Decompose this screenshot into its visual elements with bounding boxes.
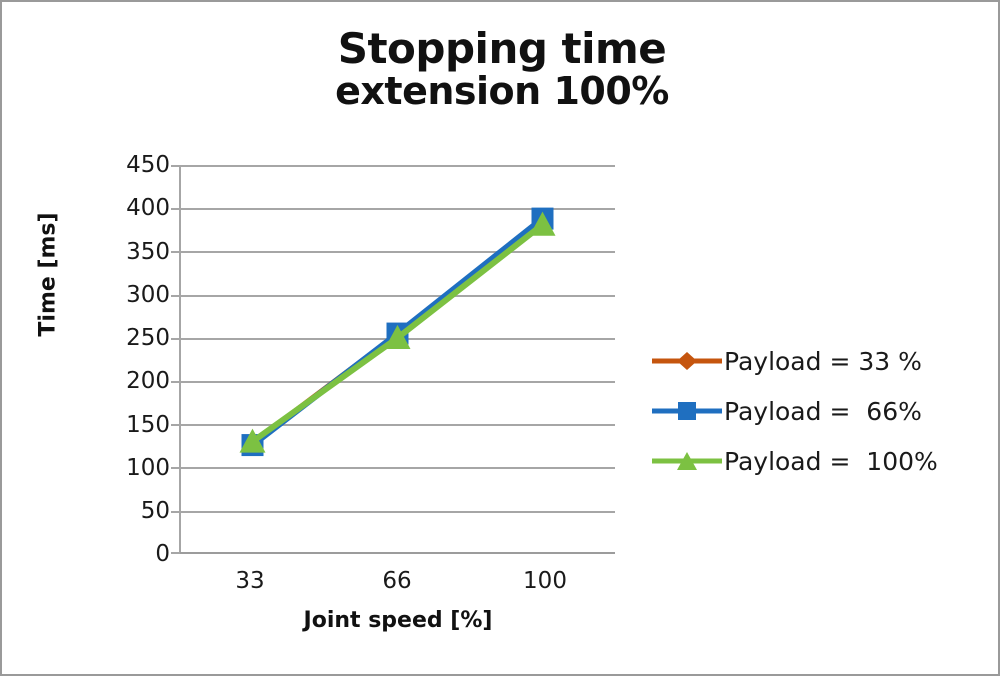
y-tick-label: 400 [98,197,170,220]
y-tick-label: 450 [98,154,170,177]
y-axis-title: Time [ms] [36,175,61,375]
legend-marker-triangle-icon [650,449,724,473]
legend-item-payload-100: Payload = 100% [650,436,990,486]
y-axis-tick-labels: 450 400 350 300 250 200 150 100 50 0 [88,165,170,554]
legend-label: Payload = 100% [724,447,938,476]
y-tick-label: 0 [98,543,170,566]
legend-marker-square-icon [650,399,724,423]
legend-item-payload-66: Payload = 66% [650,386,990,436]
x-axis-title: Joint speed [%] [180,608,616,633]
chart-title-line-2: extension 100% [152,71,852,112]
chart-title: Stopping time extension 100% [152,26,852,112]
x-tick-label: 33 [190,568,310,594]
chart-legend: Payload = 33 % Payload = 66% Payload = 1… [650,336,990,486]
y-tick-label: 200 [98,370,170,393]
legend-label: Payload = 33 % [724,347,922,376]
chart-image: Stopping time extension 100% Time [ms] 4… [0,0,1000,676]
y-tick-label: 150 [98,414,170,437]
plot-area [180,165,615,554]
series-2 [240,212,556,453]
legend-label: Payload = 66% [724,397,922,426]
x-tick-label: 100 [485,568,605,594]
y-tick-label: 350 [98,241,170,264]
legend-item-payload-33: Payload = 33 % [650,336,990,386]
y-tick-label: 100 [98,457,170,480]
y-tick-label: 250 [98,327,170,350]
y-tick-label: 50 [98,500,170,523]
legend-marker-diamond-icon [650,349,724,373]
y-tick-label: 300 [98,284,170,307]
series-plot [180,165,615,554]
chart-title-line-1: Stopping time [152,26,852,71]
x-tick-label: 66 [337,568,457,594]
